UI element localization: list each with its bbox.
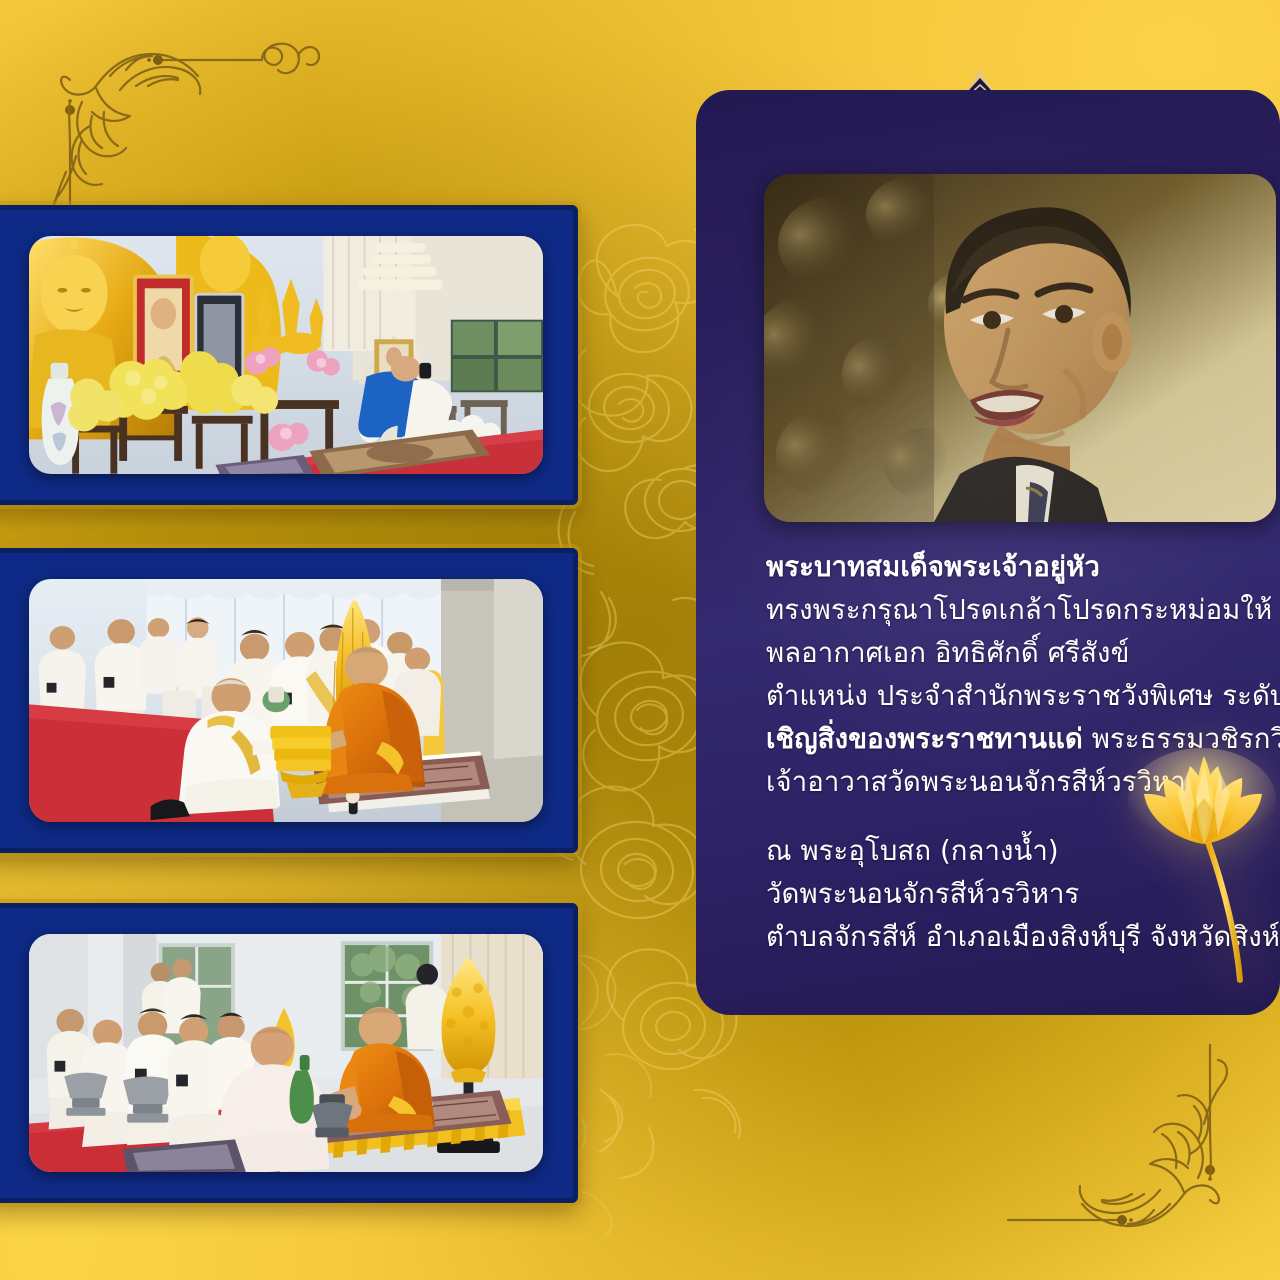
botanical-corner-ornament xyxy=(10,6,330,236)
photo-1-image xyxy=(29,236,543,474)
poster-canvas: พระบาทสมเด็จพระเจ้าอยู่หัว ทรงพระกรุณาโป… xyxy=(0,0,1280,1280)
photo-card-1 xyxy=(0,205,578,505)
photo-card-3 xyxy=(0,903,578,1203)
royal-portrait xyxy=(764,174,1276,522)
photo-3-image xyxy=(29,934,543,1172)
announcement-line-4: ตำแหน่ง ประจำสำนักพระราชวังพิเศษ ระดับ 1… xyxy=(766,675,1280,718)
announcement-line-1: พระบาทสมเด็จพระเจ้าอยู่หัว xyxy=(766,546,1280,589)
announcement-line-5-bold: เชิญสิ่งของพระราชทานแด่ xyxy=(766,723,1083,755)
announcement-line-2: ทรงพระกรุณาโปรดเกล้าโปรดกระหม่อมให้ xyxy=(766,589,1280,632)
photo-card-2 xyxy=(0,548,578,853)
announcement-line-3: พลอากาศเอก อิทธิศักดิ์ ศรีสังข์ xyxy=(766,632,1280,675)
photo-2-image xyxy=(29,579,543,822)
lotus-flower-icon xyxy=(1128,748,1278,1038)
botanical-corner-ornament xyxy=(950,1044,1270,1274)
